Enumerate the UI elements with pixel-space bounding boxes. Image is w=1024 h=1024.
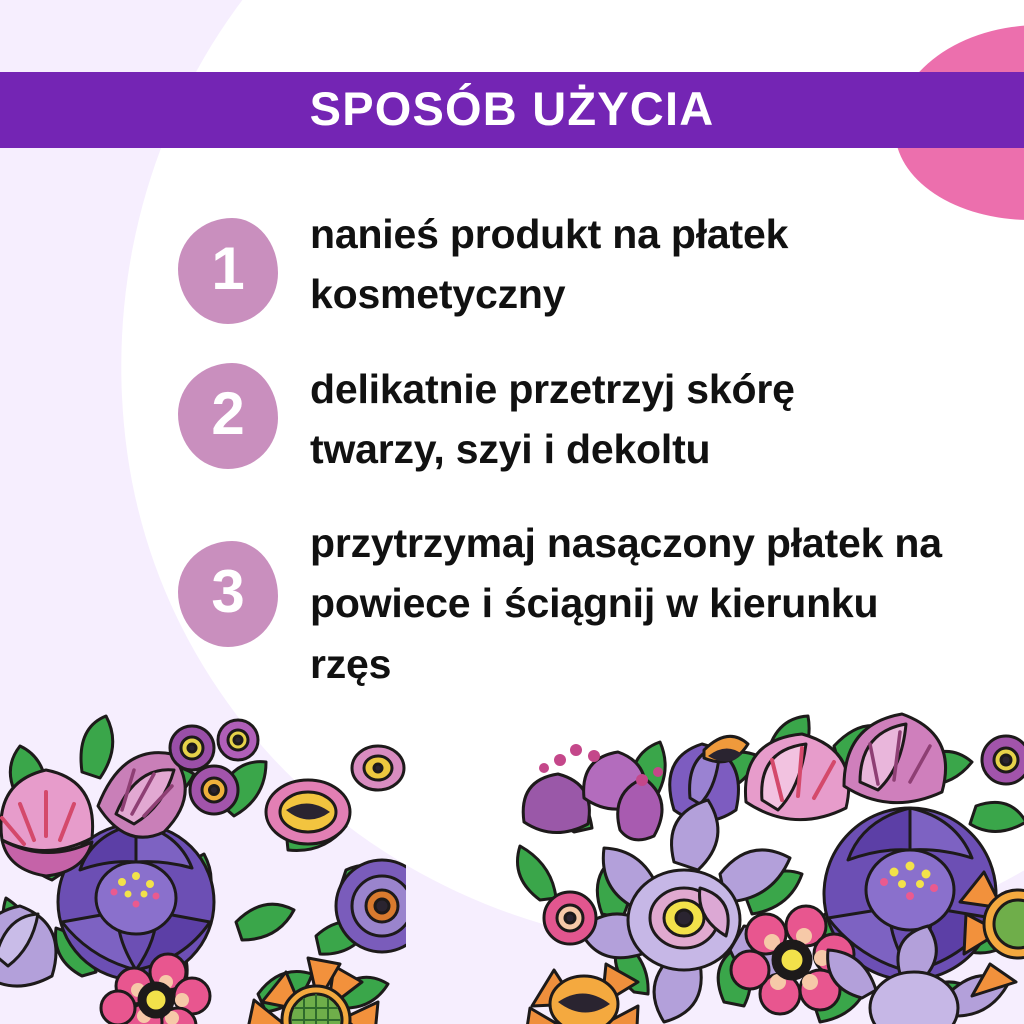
step-text: delikatnie przetrzyj skórę twarzy, szyi … — [310, 351, 930, 480]
step-text: nanieś produkt na płatek kosmetyczny — [310, 196, 930, 325]
list-item: 2 delikatnie przetrzyj skórę twarzy, szy… — [0, 351, 1024, 480]
list-item: 1 nanieś produkt na płatek kosmetyczny — [0, 196, 1024, 325]
step-number: 3 — [211, 562, 244, 626]
step-number-badge: 1 — [178, 218, 278, 324]
steps-list: 1 nanieś produkt na płatek kosmetyczny 2… — [0, 196, 1024, 720]
page-title: SPOSÓB UŻYCIA — [310, 85, 715, 135]
infographic-canvas: SPOSÓB UŻYCIA 1 nanieś produkt na płatek… — [0, 0, 1024, 1024]
list-item: 3 przytrzymaj nasączony płatek na powiec… — [0, 505, 1024, 694]
header-banner: SPOSÓB UŻYCIA — [0, 72, 1024, 148]
step-number-badge: 2 — [178, 363, 278, 469]
step-number: 2 — [211, 384, 244, 448]
step-number: 1 — [211, 239, 244, 303]
step-text: przytrzymaj nasączony płatek na powiece … — [310, 505, 970, 694]
step-number-badge: 3 — [178, 541, 278, 647]
